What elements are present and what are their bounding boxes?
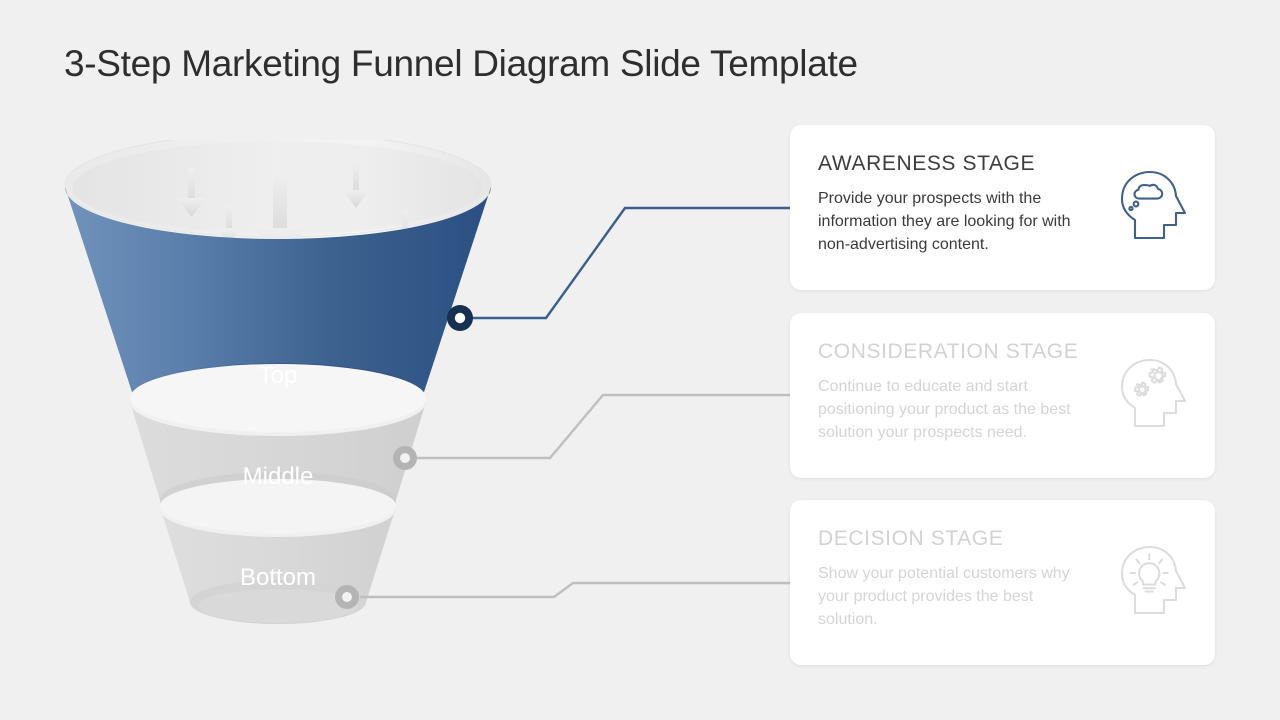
head-gears-icon — [1108, 351, 1192, 435]
stage-card-decision[interactable]: DECISION STAGE Show your potential custo… — [790, 500, 1215, 665]
card-body: Show your potential customers why your p… — [818, 562, 1090, 631]
card-title: DECISION STAGE — [818, 527, 1003, 551]
connector-line-3 — [360, 583, 790, 597]
stage-card-consideration[interactable]: CONSIDERATION STAGE Continue to educate … — [790, 313, 1215, 478]
card-body: Continue to educate and start positionin… — [818, 375, 1090, 444]
head-lightbulb-icon — [1108, 538, 1192, 622]
connector-dot-top[interactable] — [447, 305, 473, 331]
card-title: CONSIDERATION STAGE — [818, 340, 1078, 364]
connector-dot-middle[interactable] — [393, 446, 417, 470]
connector-line-2 — [417, 395, 790, 458]
connector-line-1 — [470, 208, 790, 318]
card-title: AWARENESS STAGE — [818, 152, 1035, 176]
card-body: Provide your prospects with the informat… — [818, 187, 1090, 256]
connector-dot-bottom[interactable] — [335, 585, 359, 609]
slide-canvas: 3-Step Marketing Funnel Diagram Slide Te… — [0, 0, 1280, 720]
stage-card-awareness[interactable]: AWARENESS STAGE Provide your prospects w… — [790, 125, 1215, 290]
head-thought-bubble-icon — [1108, 163, 1192, 247]
